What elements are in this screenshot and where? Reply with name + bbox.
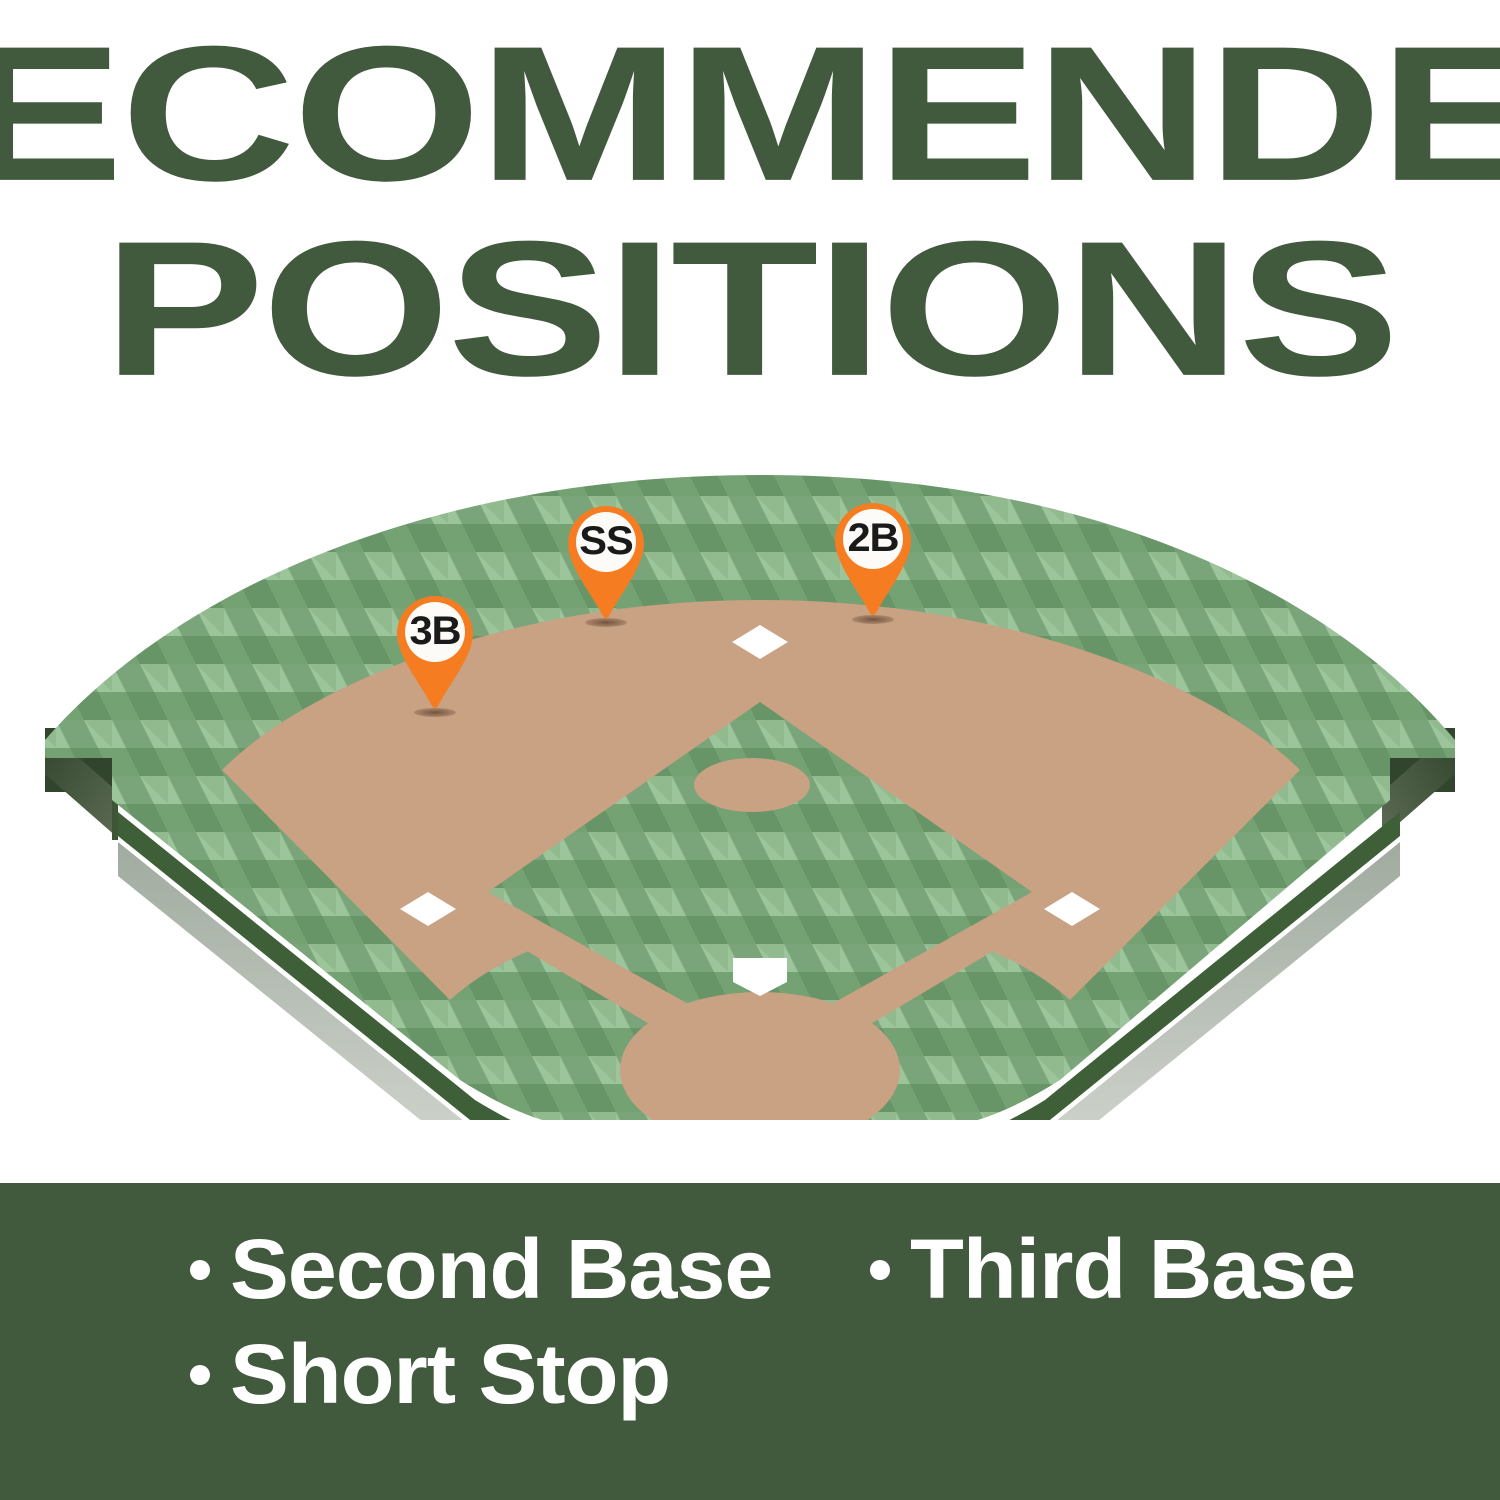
page-title: RECOMMENDED POSITIONS xyxy=(0,28,1500,395)
bullet-icon xyxy=(190,1365,210,1385)
positions-column-left-row2: Short Stop xyxy=(190,1330,870,1429)
position-label: Third Base xyxy=(910,1225,1355,1314)
positions-column-left: Second Base xyxy=(190,1225,870,1324)
bullet-icon xyxy=(190,1260,210,1280)
marker-second-base[interactable]: 2B xyxy=(832,501,914,617)
position-label: Short Stop xyxy=(230,1330,670,1419)
list-item[interactable]: Third Base xyxy=(870,1225,1430,1314)
title-line-one: RECOMMENDED xyxy=(0,21,1500,207)
title-line-two: POSITIONS xyxy=(0,216,1500,402)
pitchers-mound xyxy=(694,758,810,812)
position-label: Second Base xyxy=(230,1225,772,1314)
infographic-page: RECOMMENDED POSITIONS xyxy=(0,0,1500,1500)
grass-surface xyxy=(0,440,1500,1120)
positions-footer-band: Second Base Third Base Short Stop xyxy=(0,1183,1500,1500)
positions-list: Second Base Third Base Short Stop xyxy=(190,1225,1450,1429)
marker-third-base[interactable]: 3B xyxy=(394,594,476,710)
marker-label-short-stop: SS xyxy=(563,510,648,572)
baseball-field-diagram: 3B SS 2B xyxy=(0,440,1500,1120)
marker-label-third-base: 3B xyxy=(392,600,477,662)
positions-column-right: Third Base xyxy=(870,1225,1430,1324)
marker-short-stop[interactable]: SS xyxy=(565,504,647,620)
list-item[interactable]: Short Stop xyxy=(190,1330,870,1419)
marker-label-second-base: 2B xyxy=(830,507,915,569)
bullet-icon xyxy=(870,1260,890,1280)
list-item[interactable]: Second Base xyxy=(190,1225,870,1314)
field-illustration xyxy=(0,440,1500,1120)
